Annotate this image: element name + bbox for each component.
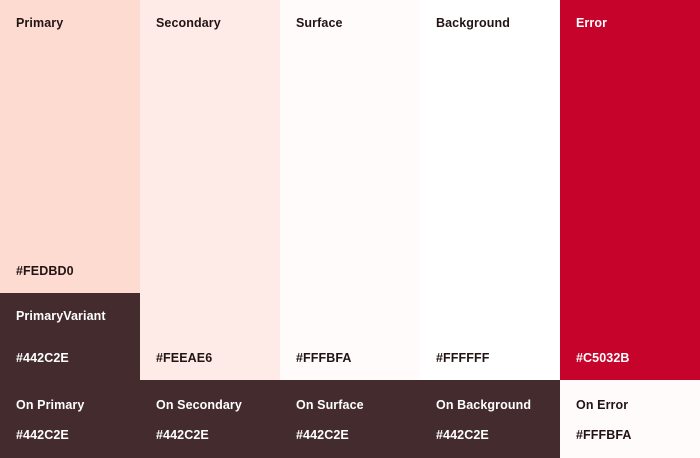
swatch-hex-wrap: #FFFFFF bbox=[420, 351, 560, 380]
on-swatch-hex: #442C2E bbox=[16, 428, 140, 443]
swatch-name-wrap: Secondary bbox=[140, 0, 280, 31]
on-color-swatch[interactable]: On Surface#442C2E bbox=[280, 380, 420, 458]
on-swatch-name: On Secondary bbox=[156, 398, 280, 413]
on-swatch-hex: #442C2E bbox=[436, 428, 560, 443]
palette-column: Error#C5032BOn Error#FFFBFA bbox=[560, 0, 700, 458]
swatch-name: Surface bbox=[296, 16, 420, 31]
swatch-name-wrap: Background bbox=[420, 0, 560, 31]
swatch-name-wrap: PrimaryVariant bbox=[0, 293, 140, 324]
swatch-name: Background bbox=[436, 16, 560, 31]
color-swatch[interactable]: Error#C5032B bbox=[560, 0, 700, 380]
on-color-swatch[interactable]: On Secondary#442C2E bbox=[140, 380, 280, 458]
swatch-hex: #C5032B bbox=[576, 351, 700, 366]
swatch-hex: #FEEAE6 bbox=[156, 351, 280, 366]
on-color-swatch[interactable]: On Error#FFFBFA bbox=[560, 380, 700, 458]
swatch-hex: #FFFBFA bbox=[296, 351, 420, 366]
on-swatch-hex: #442C2E bbox=[156, 428, 280, 443]
swatch-hex-wrap: #FEDBD0 bbox=[0, 264, 140, 293]
swatch-hex-wrap: #442C2E bbox=[0, 351, 140, 380]
color-swatch[interactable]: Surface#FFFBFA bbox=[280, 0, 420, 380]
swatch-hex: #FFFFFF bbox=[436, 351, 560, 366]
palette-column: Secondary#FEEAE6On Secondary#442C2E bbox=[140, 0, 280, 458]
color-palette: Primary#FEDBD0PrimaryVariant#442C2EOn Pr… bbox=[0, 0, 700, 458]
on-swatch-hex: #FFFBFA bbox=[576, 428, 700, 443]
color-swatch[interactable]: Primary#FEDBD0 bbox=[0, 0, 140, 293]
swatch-hex-wrap: #FFFBFA bbox=[280, 351, 420, 380]
swatch-hex: #442C2E bbox=[16, 351, 140, 366]
palette-column: Background#FFFFFFOn Background#442C2E bbox=[420, 0, 560, 458]
swatch-name: Error bbox=[576, 16, 700, 31]
swatch-name-wrap: Primary bbox=[0, 0, 140, 31]
color-swatch[interactable]: PrimaryVariant#442C2E bbox=[0, 293, 140, 380]
swatch-name-wrap: Error bbox=[560, 0, 700, 31]
on-swatch-hex: #442C2E bbox=[296, 428, 420, 443]
on-color-swatch[interactable]: On Primary#442C2E bbox=[0, 380, 140, 458]
on-color-swatch[interactable]: On Background#442C2E bbox=[420, 380, 560, 458]
swatch-hex-wrap: #C5032B bbox=[560, 351, 700, 380]
on-swatch-name: On Background bbox=[436, 398, 560, 413]
swatch-hex: #FEDBD0 bbox=[16, 264, 140, 279]
swatch-name-wrap: Surface bbox=[280, 0, 420, 31]
on-swatch-name: On Surface bbox=[296, 398, 420, 413]
on-swatch-name: On Error bbox=[576, 398, 700, 413]
color-swatch[interactable]: Secondary#FEEAE6 bbox=[140, 0, 280, 380]
swatch-name: Primary bbox=[16, 16, 140, 31]
palette-column: Primary#FEDBD0PrimaryVariant#442C2EOn Pr… bbox=[0, 0, 140, 458]
swatch-hex-wrap: #FEEAE6 bbox=[140, 351, 280, 380]
palette-column: Surface#FFFBFAOn Surface#442C2E bbox=[280, 0, 420, 458]
swatch-name: PrimaryVariant bbox=[16, 309, 140, 324]
color-swatch[interactable]: Background#FFFFFF bbox=[420, 0, 560, 380]
on-swatch-name: On Primary bbox=[16, 398, 140, 413]
swatch-name: Secondary bbox=[156, 16, 280, 31]
